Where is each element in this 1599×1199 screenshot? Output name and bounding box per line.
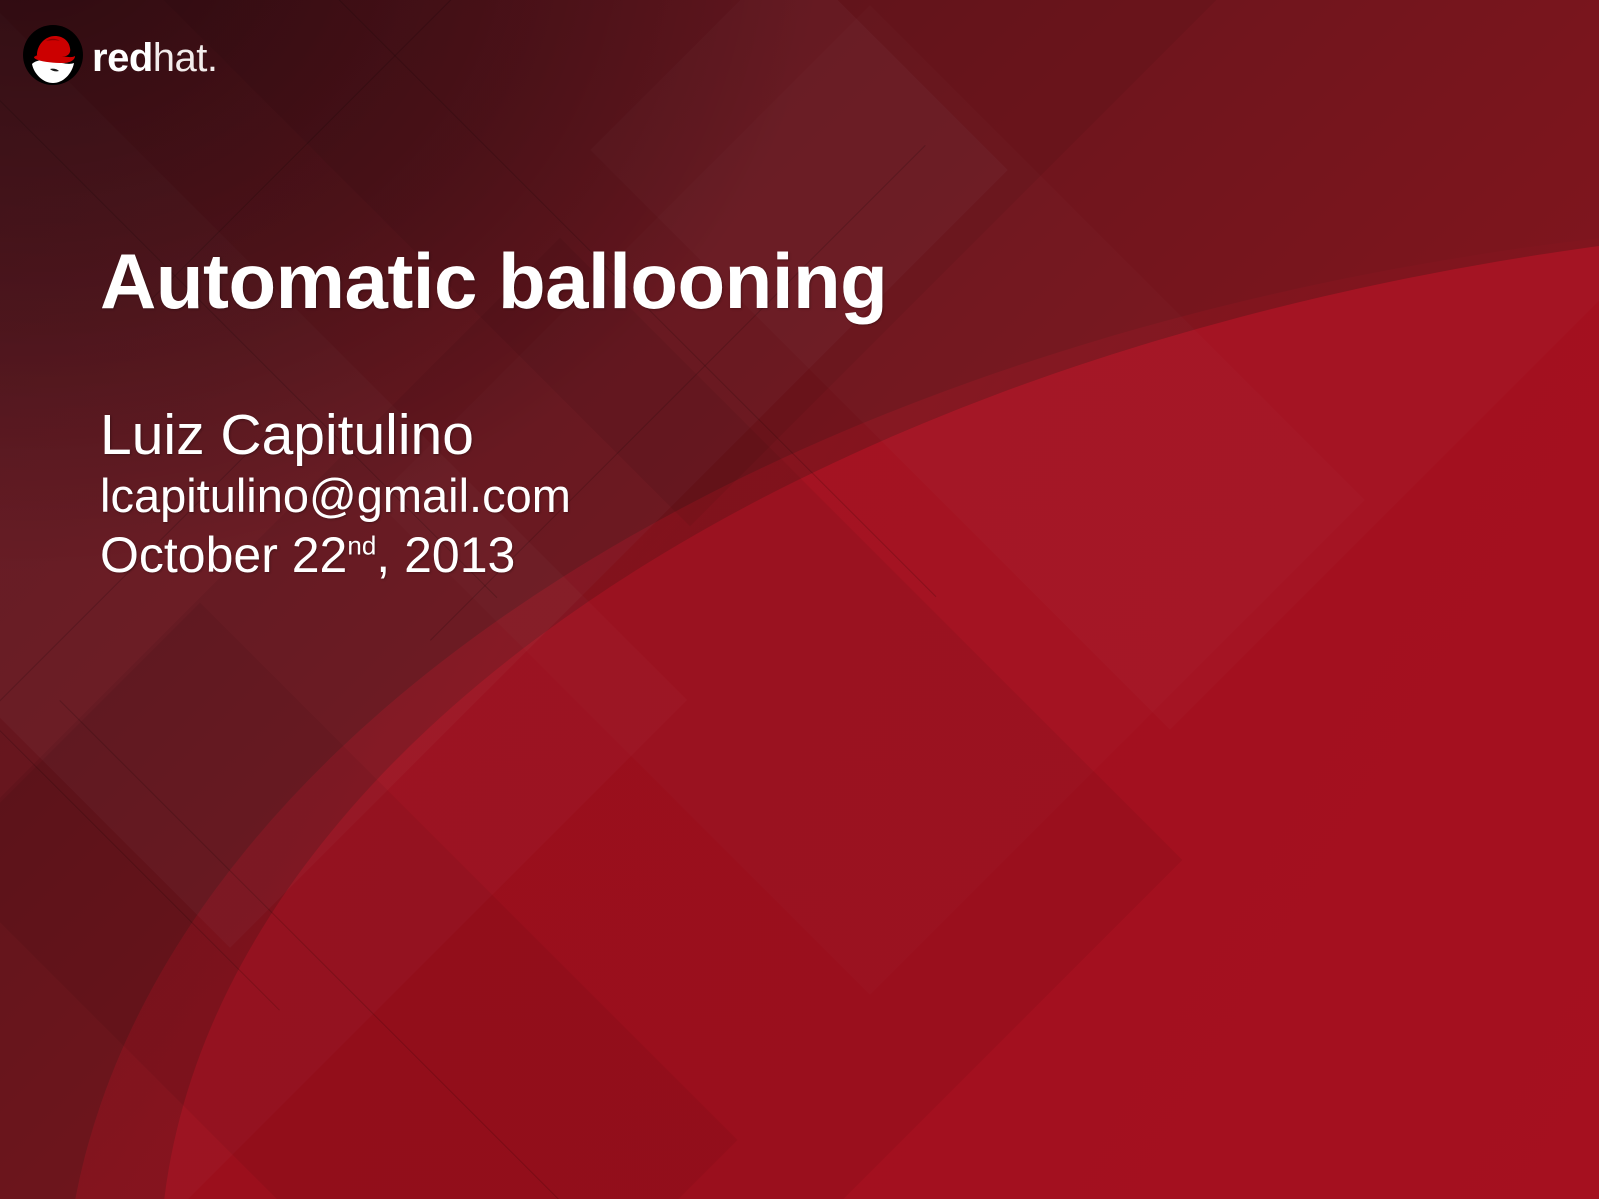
red-hat-shadowman-icon: [22, 24, 84, 91]
slide-subtitle-block: Luiz Capitulino lcapitulino@gmail.com Oc…: [100, 404, 887, 586]
presentation-slide: redhat. Automatic ballooning Luiz Capitu…: [0, 0, 1599, 1199]
wordmark-hat: hat: [153, 36, 207, 80]
slide-content: Automatic ballooning Luiz Capitulino lca…: [100, 242, 887, 586]
slide-background-red-sweep: [0, 0, 1599, 1199]
wordmark-period: .: [207, 36, 218, 80]
background-facet: [0, 603, 737, 1199]
red-hat-logo: redhat.: [22, 24, 217, 91]
slide-background-base: [0, 0, 1599, 1199]
background-crease: [59, 700, 583, 1199]
date-suffix: , 2013: [376, 527, 515, 583]
date-ordinal-suffix: nd: [347, 530, 376, 560]
background-facet: [0, 0, 687, 1199]
red-hat-wordmark: redhat.: [92, 38, 217, 78]
author-name: Luiz Capitulino: [100, 404, 887, 468]
slide-title: Automatic ballooning: [100, 242, 887, 322]
date-prefix: October 22: [100, 527, 347, 583]
author-email: lcapitulino@gmail.com: [100, 467, 887, 524]
slide-background-band: [0, 0, 1599, 1199]
background-vignette: [0, 0, 1599, 1199]
presentation-date: October 22nd, 2013: [100, 525, 887, 586]
wordmark-red: red: [92, 36, 153, 80]
